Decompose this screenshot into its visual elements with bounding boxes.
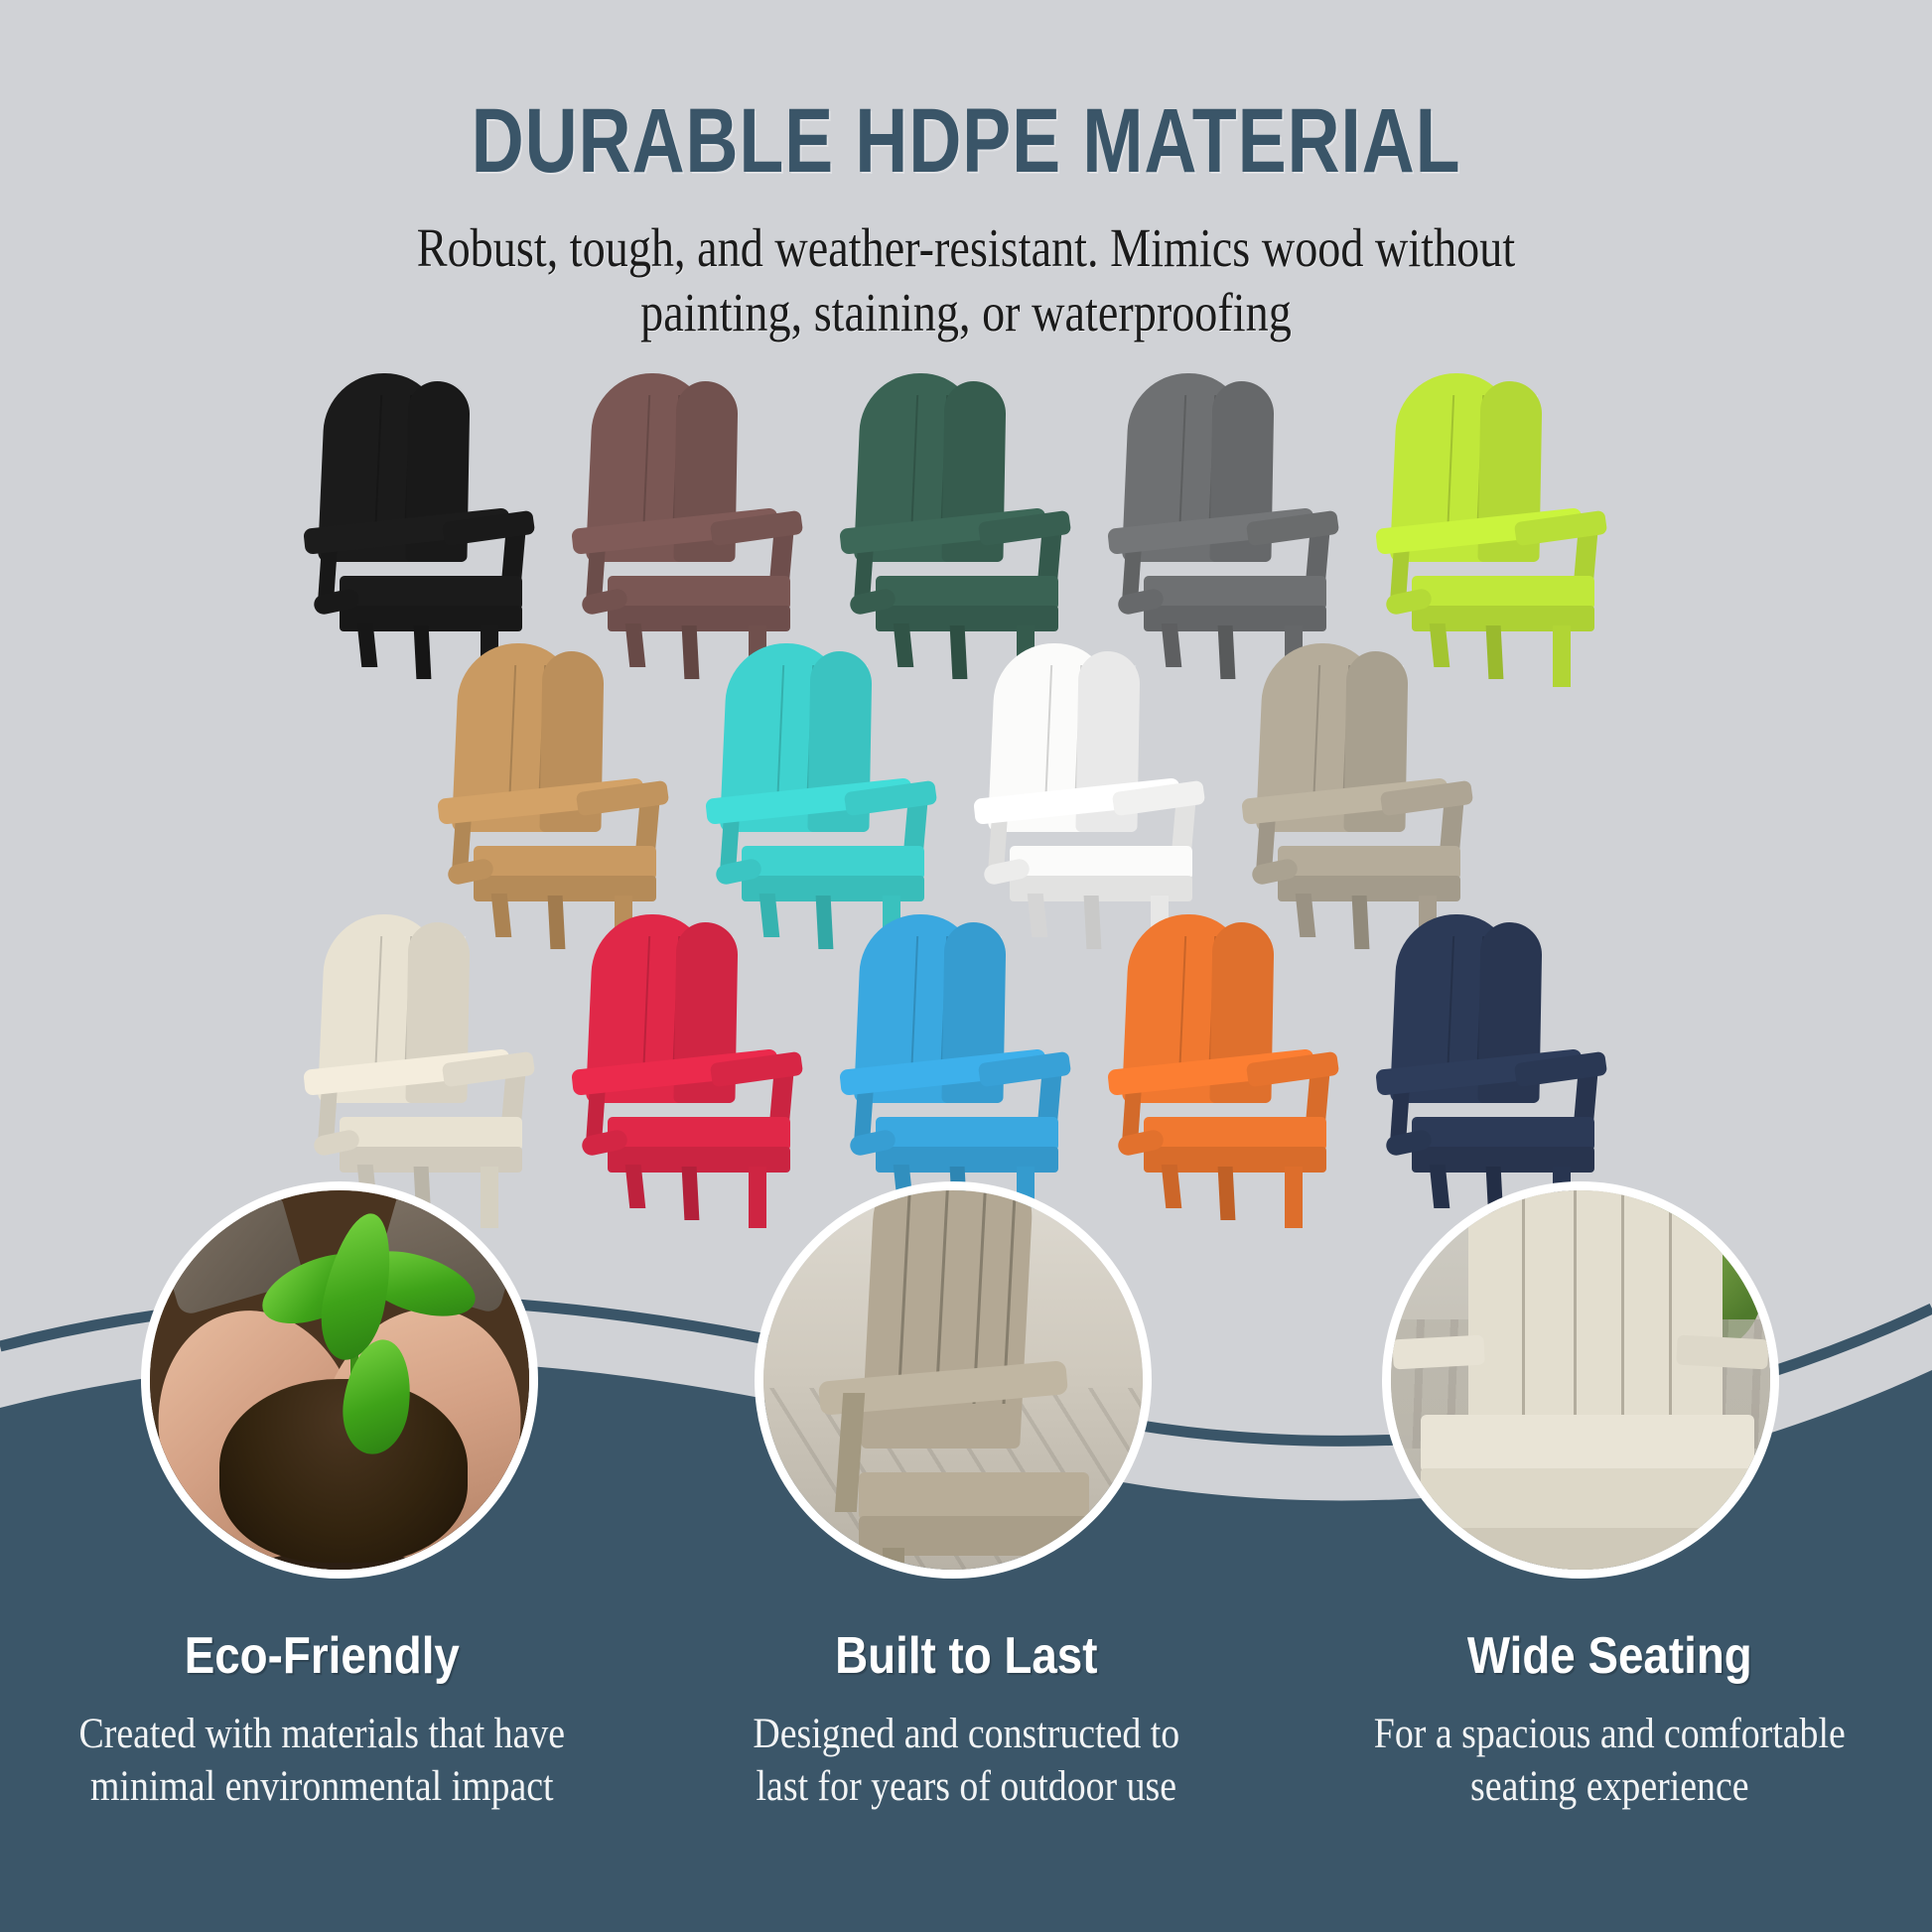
feature-title: Built to Last	[712, 1626, 1219, 1686]
chair-swatch-white[interactable]	[966, 639, 1234, 927]
chair-swatch-lime-green[interactable]	[1368, 369, 1636, 657]
chair-swatch-light-blue[interactable]	[832, 910, 1100, 1198]
chair-part-seat	[474, 846, 656, 880]
chair-swatch-black[interactable]	[296, 369, 564, 657]
feature-desc-line-2: minimal environmental impact	[69, 1760, 576, 1813]
adirondack-chair-icon	[564, 369, 832, 657]
chair-row-3	[0, 910, 1932, 1198]
feature-description: For a spacious and comfortable seating e…	[1356, 1708, 1863, 1814]
adirondack-chair-icon	[430, 639, 698, 927]
feature-description: Designed and constructed to last for yea…	[712, 1708, 1219, 1814]
feature-circle-eco-friendly	[141, 1181, 538, 1579]
adirondack-chair-icon	[1234, 639, 1502, 927]
chair-part-seat	[608, 576, 790, 610]
feature-desc-line-1: Designed and constructed to	[712, 1708, 1219, 1760]
feature-wide-seating: Wide Seating For a spacious and comforta…	[1288, 1626, 1932, 1814]
feature-desc-line-1: For a spacious and comfortable	[1356, 1708, 1863, 1760]
chair-part-seat	[340, 576, 522, 610]
adirondack-chair-icon	[296, 369, 564, 657]
adirondack-chair-icon	[1368, 369, 1636, 657]
subtitle-line-2: painting, staining, or waterproofing	[155, 281, 1778, 345]
page-title: DURABLE HDPE MATERIAL	[194, 95, 1739, 187]
adirondack-chair-icon	[1368, 910, 1636, 1198]
feature-title: Wide Seating	[1356, 1626, 1863, 1686]
adirondack-chair-icon	[832, 369, 1100, 657]
chair-part-seat	[742, 846, 924, 880]
header: DURABLE HDPE MATERIAL Robust, tough, and…	[0, 0, 1932, 345]
chair-part-seat	[1144, 1117, 1326, 1151]
feature-circle-built-to-last	[755, 1181, 1152, 1579]
feature-desc-line-2: last for years of outdoor use	[712, 1760, 1219, 1813]
subtitle-line-1: Robust, tough, and weather-resistant. Mi…	[155, 216, 1778, 281]
chair-swatch-navy-blue[interactable]	[1368, 910, 1636, 1198]
chair-swatch-gray[interactable]	[1100, 369, 1368, 657]
feature-eco-friendly: Eco-Friendly Created with materials that…	[0, 1626, 644, 1814]
taupe-adirondack-chair-icon	[763, 1190, 1143, 1570]
chair-part-seat	[876, 576, 1058, 610]
feature-description: Created with materials that have minimal…	[69, 1708, 576, 1814]
feature-circle-wide-seating	[1382, 1181, 1779, 1579]
adirondack-chair-icon	[1100, 369, 1368, 657]
adirondack-chair-icon	[296, 910, 564, 1198]
adirondack-chair-icon	[698, 639, 966, 927]
chair-part-seat	[1412, 1117, 1594, 1151]
chair-swatch-turquoise[interactable]	[698, 639, 966, 927]
chair-part-seat	[340, 1117, 522, 1151]
chair-part-seat	[876, 1117, 1058, 1151]
chair-swatch-weathered-wood[interactable]	[1234, 639, 1502, 927]
chair-part-seat	[1412, 576, 1594, 610]
ivory-chair-wide-seat-icon	[1391, 1190, 1770, 1570]
chair-swatch-dark-green[interactable]	[832, 369, 1100, 657]
feature-desc-line-1: Created with materials that have	[69, 1708, 576, 1760]
chair-swatch-orange[interactable]	[1100, 910, 1368, 1198]
chair-swatch-brown[interactable]	[564, 369, 832, 657]
adirondack-chair-icon	[832, 910, 1100, 1198]
chair-color-grid	[0, 369, 1932, 1263]
feature-text-row: Eco-Friendly Created with materials that…	[0, 1626, 1932, 1814]
page-subtitle: Robust, tough, and weather-resistant. Mi…	[155, 216, 1778, 345]
adirondack-chair-icon	[564, 910, 832, 1198]
feature-desc-line-2: seating experience	[1356, 1760, 1863, 1813]
chair-swatch-ivory[interactable]	[296, 910, 564, 1198]
chair-part-seat	[1010, 846, 1192, 880]
feature-title: Eco-Friendly	[69, 1626, 576, 1686]
feature-built-to-last: Built to Last Designed and constructed t…	[644, 1626, 1289, 1814]
feature-image-circles	[0, 1181, 1932, 1598]
adirondack-chair-icon	[1100, 910, 1368, 1198]
chair-part-seat	[1278, 846, 1460, 880]
chair-swatch-teak[interactable]	[430, 639, 698, 927]
chair-part-seat	[1144, 576, 1326, 610]
hands-holding-seedling-icon	[150, 1190, 529, 1570]
chair-swatch-red[interactable]	[564, 910, 832, 1198]
chair-row-1	[0, 369, 1932, 657]
chair-part-seat	[608, 1117, 790, 1151]
adirondack-chair-icon	[966, 639, 1234, 927]
chair-row-2	[0, 639, 1932, 927]
